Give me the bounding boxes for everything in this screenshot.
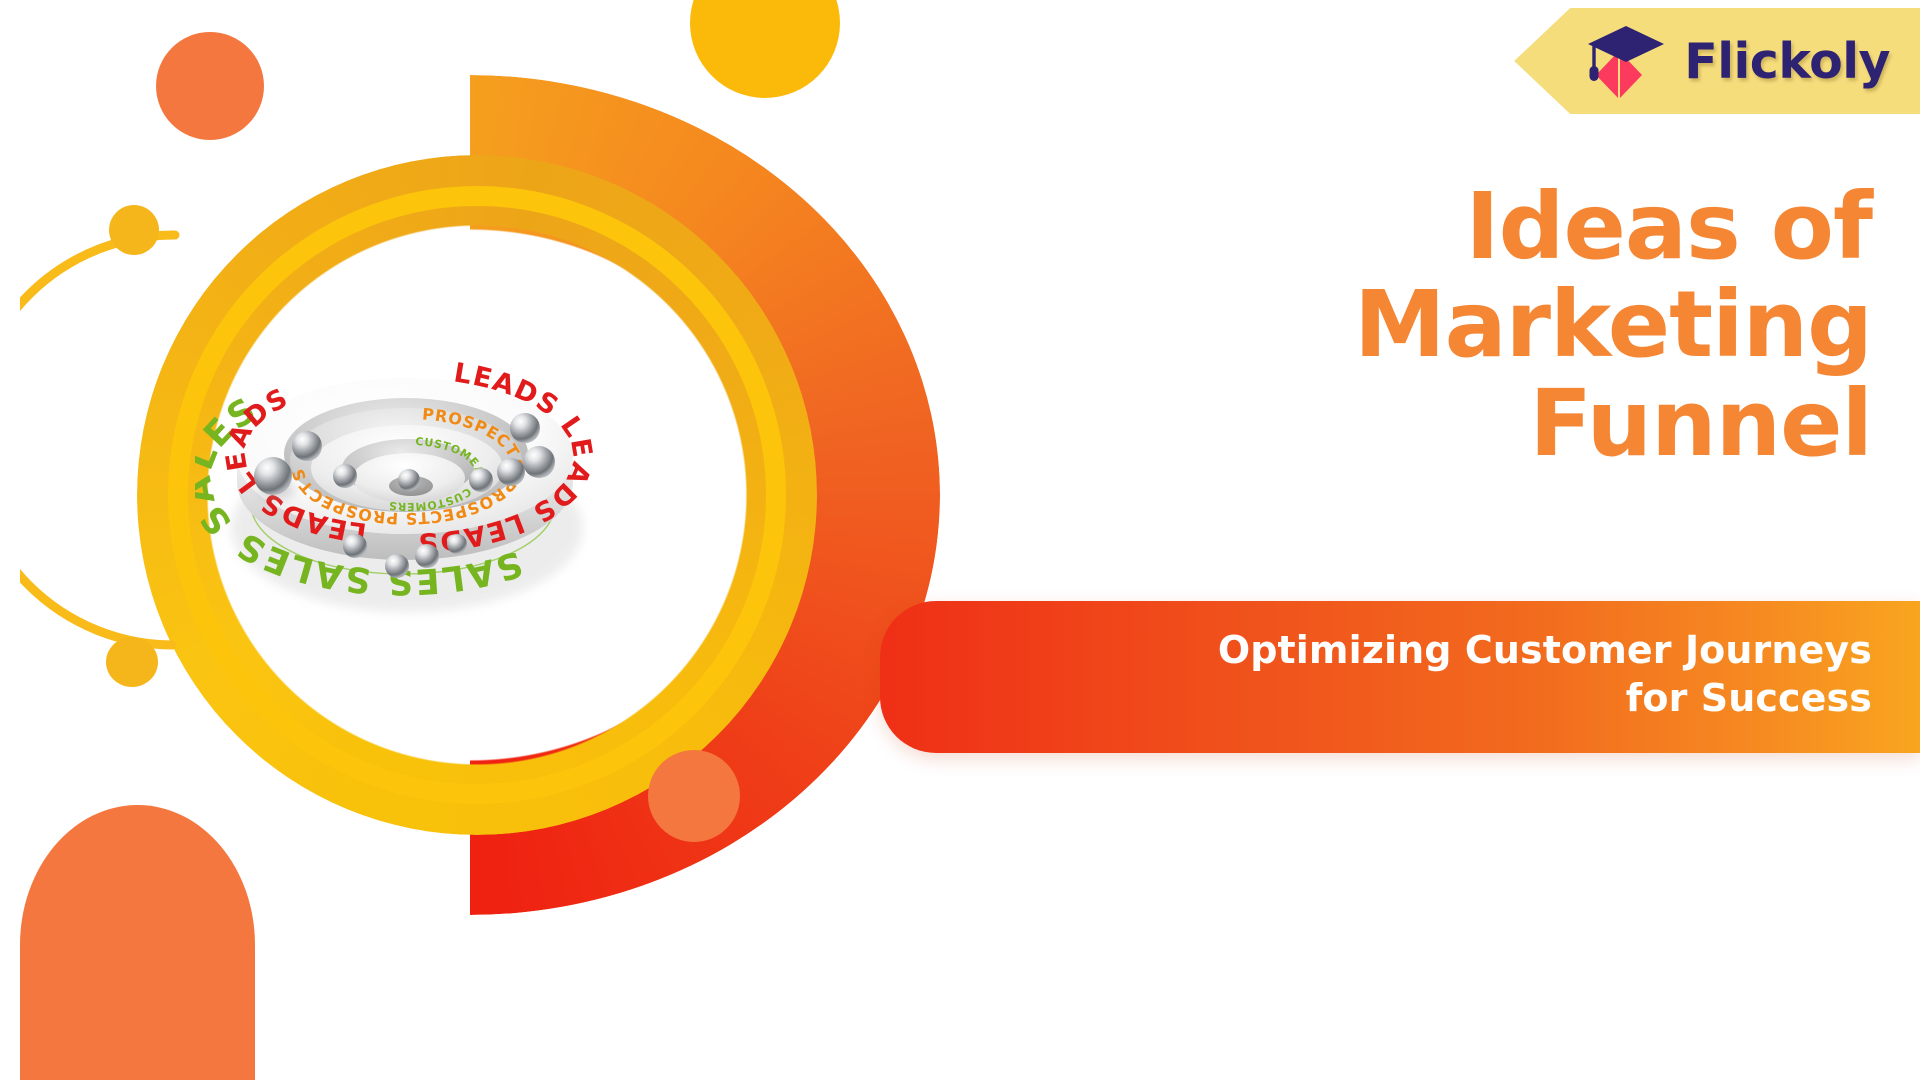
- brand-name: Flickoly: [1684, 37, 1890, 86]
- marketing-funnel-illustration: SALES SALES SALES LEADS LEADS LEADS LEAD…: [195, 228, 615, 648]
- decor-circle-top-left: [156, 32, 264, 140]
- title-line-3: Funnel: [1052, 375, 1872, 473]
- poster-canvas: SALES SALES SALES LEADS LEADS LEADS LEAD…: [0, 0, 1920, 1080]
- page-title: Ideas of Marketing Funnel: [1052, 178, 1872, 473]
- graduation-cap-play-icon: [1584, 22, 1668, 100]
- subtitle-banner: Optimizing Customer Journeys for Success: [880, 601, 1920, 753]
- title-line-1: Ideas of: [1052, 178, 1872, 276]
- decor-arc-dot-top: [109, 205, 159, 255]
- brand-logo-badge[interactable]: Flickoly: [1514, 8, 1920, 114]
- subtitle-line-1: Optimizing Customer Journeys: [940, 627, 1872, 675]
- decor-arc-dot-bottom: [106, 637, 158, 687]
- decor-circle-bottom-middle: [648, 750, 740, 842]
- subtitle-line-2: for Success: [940, 675, 1872, 723]
- title-line-2: Marketing: [1052, 276, 1872, 374]
- decor-circle-bottom-left: [20, 805, 255, 1080]
